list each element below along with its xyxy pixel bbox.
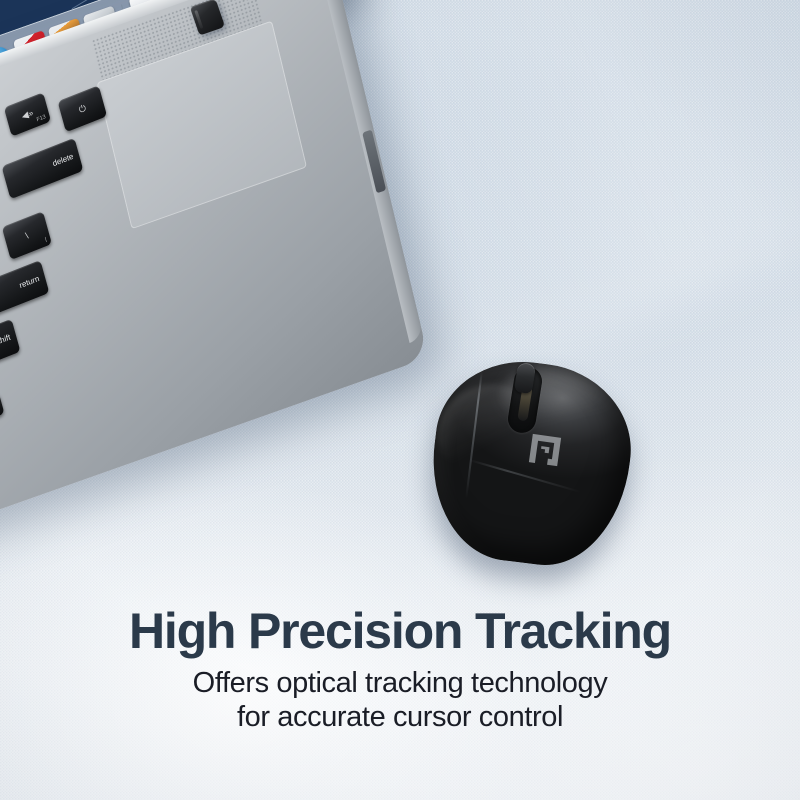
key-eject[interactable]: ◀»F13 [4, 92, 51, 136]
headline: High Precision Tracking [0, 604, 800, 658]
key-glyph: ◀» [21, 108, 35, 121]
key-backslash[interactable]: \| [2, 211, 52, 260]
product-marketing-scene: ▶❙F10◀·F11◀»F12◀»F13⏻0)–_=+deleteP[{]}\|… [0, 0, 800, 800]
key-secondary-label: F13 [36, 115, 46, 124]
subtitle: Offers optical tracking technology for a… [0, 666, 800, 734]
subtitle-line-1: Offers optical tracking technology [193, 667, 608, 699]
key-shift-right[interactable]: shift [0, 319, 21, 390]
key-arrow-down[interactable]: ▼ [0, 392, 5, 428]
laptop-base: ▶❙F10◀·F11◀»F12◀»F13⏻0)–_=+deleteP[{]}\|… [0, 0, 428, 545]
laptop-right-edge [315, 0, 424, 343]
portronics-logo-icon [526, 431, 564, 469]
key-secondary-label: | [45, 237, 48, 243]
copy-block: High Precision Tracking Offers optical t… [0, 604, 800, 734]
key-power[interactable]: ⏻ [58, 85, 108, 132]
key-glyph: ⏻ [78, 103, 87, 114]
key-return[interactable]: return [0, 260, 49, 325]
subtitle-line-2: for accurate cursor control [0, 700, 800, 734]
key-glyph: \ [24, 231, 29, 241]
key-delete[interactable]: delete [2, 138, 84, 200]
wireless-mouse [415, 355, 645, 585]
